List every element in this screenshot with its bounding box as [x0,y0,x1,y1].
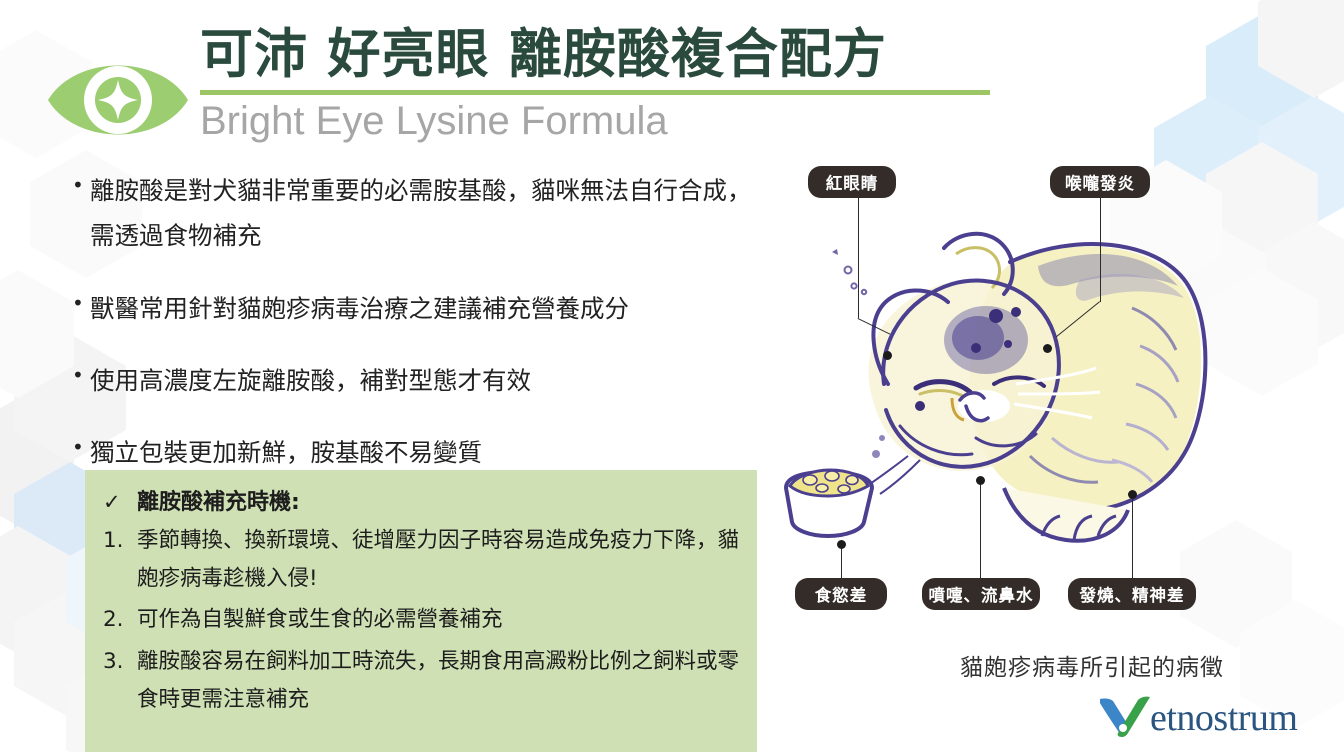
sick-cat-sketch-icon [780,188,1240,588]
list-item: • 離胺酸是對犬貓非常重要的必需胺基酸，貓咪無法自行合成，需透過食物補充 [72,168,772,259]
callout-fever-lethargy[interactable]: 發燒、精神差 [1068,578,1196,610]
list-text: 離胺酸容易在飼料加工時流失，長期食用高澱粉比例之飼料或零食時更需注意補充 [137,643,739,718]
list-number: 3. [103,643,137,681]
bullet-text: 獸醫常用針對貓皰疹病毒治療之建議補充營養成分 [90,286,772,331]
callout-poor-appetite[interactable]: 食慾差 [795,578,887,610]
bullet-text: 使用高濃度左旋離胺酸，補對型態才有效 [90,358,772,403]
title-block: 可沛 好亮眼 離胺酸複合配方 Bright Eye Lysine Formula [200,22,990,143]
callout-dot [976,476,985,485]
list-item: 1. 季節轉換、換新環境、徒增壓力因子時容易造成免疫力下降，貓皰疹病毒趁機入侵! [103,522,739,597]
callout-dot [883,351,892,360]
hexagon-decor [1258,96,1344,224]
logo-wordmark: etnostrum [1150,696,1297,740]
slide-canvas: 可沛 好亮眼 離胺酸複合配方 Bright Eye Lysine Formula… [0,0,1344,752]
callout-dot [1043,344,1052,353]
vetnostrum-logo: etnostrum [1098,694,1324,742]
supplement-timing-box: ✓ 離胺酸補充時機: 1. 季節轉換、換新環境、徒增壓力因子時容易造成免疫力下降… [85,470,757,752]
list-item: 2. 可作為自製鮮食或生食的必需營養補充 [103,601,739,639]
cat-illustration-panel [780,150,1240,620]
callout-leader-line [858,198,859,318]
check-v-icon [1098,695,1154,741]
callout-dot [1128,490,1137,499]
callout-red-eyes[interactable]: 紅眼睛 [808,166,896,198]
list-number: 1. [103,522,137,560]
callout-sneezing-runny-nose[interactable]: 噴嚏、流鼻水 [922,578,1040,610]
list-number: 2. [103,601,137,639]
hexagon-decor [1206,14,1318,142]
callout-leader-line [1100,198,1101,302]
hexagon-decor [1258,0,1344,98]
bullet-text: 離胺酸是對犬貓非常重要的必需胺基酸，貓咪無法自行合成，需透過食物補充 [90,168,772,259]
callout-leader-line [1132,496,1133,578]
bullet-list: • 離胺酸是對犬貓非常重要的必需胺基酸，貓咪無法自行合成，需透過食物補充 • 獸… [72,168,772,503]
list-text: 季節轉換、換新環境、徒增壓力因子時容易造成免疫力下降，貓皰疹病毒趁機入侵! [137,522,739,597]
page-title: 可沛 好亮眼 離胺酸複合配方 [200,22,990,88]
hexagon-decor [0,270,74,398]
title-underline [200,90,990,95]
callout-sore-throat[interactable]: 喉嚨發炎 [1050,166,1150,198]
callout-dot [837,540,846,549]
hexagon-decor [0,526,74,654]
callout-label: 食慾差 [815,582,868,606]
illustration-caption: 貓皰疹病毒所引起的病徵 [960,648,1224,682]
list-item: • 獸醫常用針對貓皰疹病毒治療之建議補充營養成分 [72,286,772,331]
slide-header: 可沛 好亮眼 離胺酸複合配方 Bright Eye Lysine Formula [0,0,1060,160]
page-subtitle: Bright Eye Lysine Formula [200,99,990,143]
list-text: 可作為自製鮮食或生食的必需營養補充 [137,601,739,639]
callout-leader-line [841,546,842,578]
callout-label: 喉嚨發炎 [1065,170,1135,194]
list-item: • 使用高濃度左旋離胺酸，補對型態才有效 [72,358,772,403]
callout-leader-line [980,482,981,578]
list-item: • 獨立包裝更加新鮮，胺基酸不易變質 [72,430,772,475]
callout-label: 發燒、精神差 [1080,582,1185,606]
numbered-list: 1. 季節轉換、換新環境、徒增壓力因子時容易造成免疫力下降，貓皰疹病毒趁機入侵!… [85,522,757,718]
hexagon-decor [0,398,74,526]
callout-label: 噴嚏、流鼻水 [929,582,1034,606]
hexagon-decor [1258,222,1344,350]
bullet-text: 獨立包裝更加新鮮，胺基酸不易變質 [90,430,772,475]
eye-sparkle-icon [42,44,194,156]
callout-label: 紅眼睛 [826,170,879,194]
list-item: 3. 離胺酸容易在飼料加工時流失，長期食用高澱粉比例之飼料或零食時更需注意補充 [103,643,739,718]
